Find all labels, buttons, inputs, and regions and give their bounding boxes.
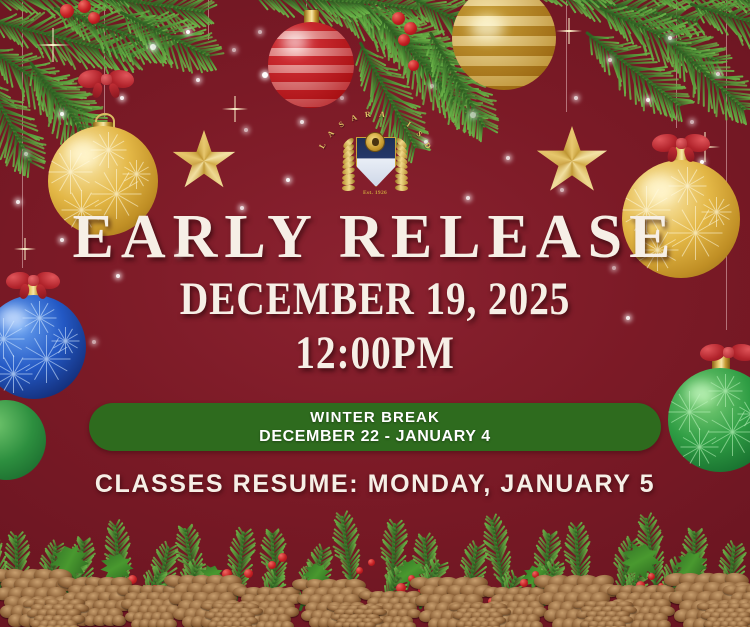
garland-berry	[356, 567, 363, 574]
pinecone	[452, 603, 504, 627]
pinecone	[700, 603, 750, 627]
bottom-garland-border	[0, 499, 750, 627]
holiday-announcement-poster: LASARA ISD Est. 1926 EARLY RELEASE DECEM…	[0, 0, 750, 627]
winter-break-label: WINTER BREAK	[310, 408, 440, 427]
garland-berry	[368, 559, 375, 566]
garland-berry	[648, 573, 655, 580]
garland-berry	[268, 561, 276, 569]
page-title: EARLY RELEASE	[0, 206, 750, 268]
pinecone-scale	[281, 620, 295, 627]
pinecone	[576, 601, 630, 627]
pinecone	[330, 605, 380, 627]
garland-berry	[244, 569, 253, 578]
classes-resume-note: CLASSES RESUME: MONDAY, JANUARY 5	[0, 470, 750, 499]
release-date: DECEMBER 19, 2025	[60, 276, 690, 323]
winter-break-dates: DECEMBER 22 - JANUARY 4	[259, 427, 491, 447]
garland-berry	[520, 579, 528, 587]
pinecone	[26, 599, 82, 627]
winter-break-banner: WINTER BREAK DECEMBER 22 - JANUARY 4	[89, 403, 661, 451]
release-time: 12:00PM	[60, 330, 690, 377]
garland-berry	[278, 553, 287, 562]
pinecone	[204, 603, 256, 627]
